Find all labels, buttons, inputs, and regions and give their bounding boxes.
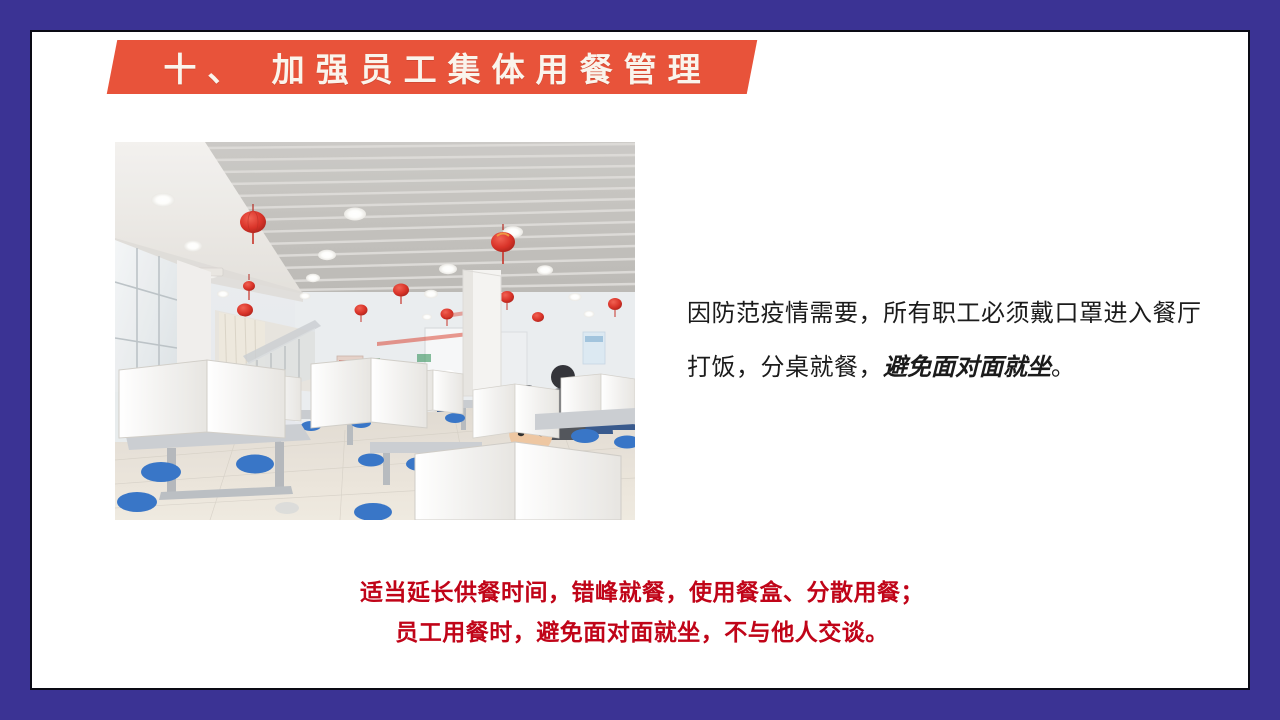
body-paragraph: 因防范疫情需要，所有职工必须戴口罩进入餐厅 打饭，分桌就餐，避免面对面就坐。 [687, 287, 1232, 395]
footer-line-1: 适当延长供餐时间，错峰就餐，使用餐盒、分散用餐； [32, 572, 1252, 612]
cafeteria-photo-illustration [115, 142, 635, 520]
body-line-2-prefix: 打饭，分桌就餐， [687, 354, 883, 381]
footer-line-2: 员工用餐时，避免面对面就坐，不与他人交谈。 [32, 612, 1252, 652]
footer-note: 适当延长供餐时间，错峰就餐，使用餐盒、分散用餐； 员工用餐时，避免面对面就坐，不… [32, 572, 1252, 652]
body-line-2-suffix: 。 [1051, 354, 1076, 381]
cafeteria-photo [115, 142, 635, 520]
body-line-2: 打饭，分桌就餐，避免面对面就坐。 [687, 341, 1232, 395]
body-emphasis: 避免面对面就坐 [883, 354, 1051, 381]
slide-inner-frame: 十、 加强员工集体用餐管理 [30, 30, 1250, 690]
body-line-1: 因防范疫情需要，所有职工必须戴口罩进入餐厅 [687, 287, 1232, 341]
page-title: 十、 加强员工集体用餐管理 [112, 40, 752, 94]
slide-root: 十、 加强员工集体用餐管理 [0, 0, 1280, 720]
slide-canvas: 十、 加强员工集体用餐管理 [32, 32, 1252, 692]
